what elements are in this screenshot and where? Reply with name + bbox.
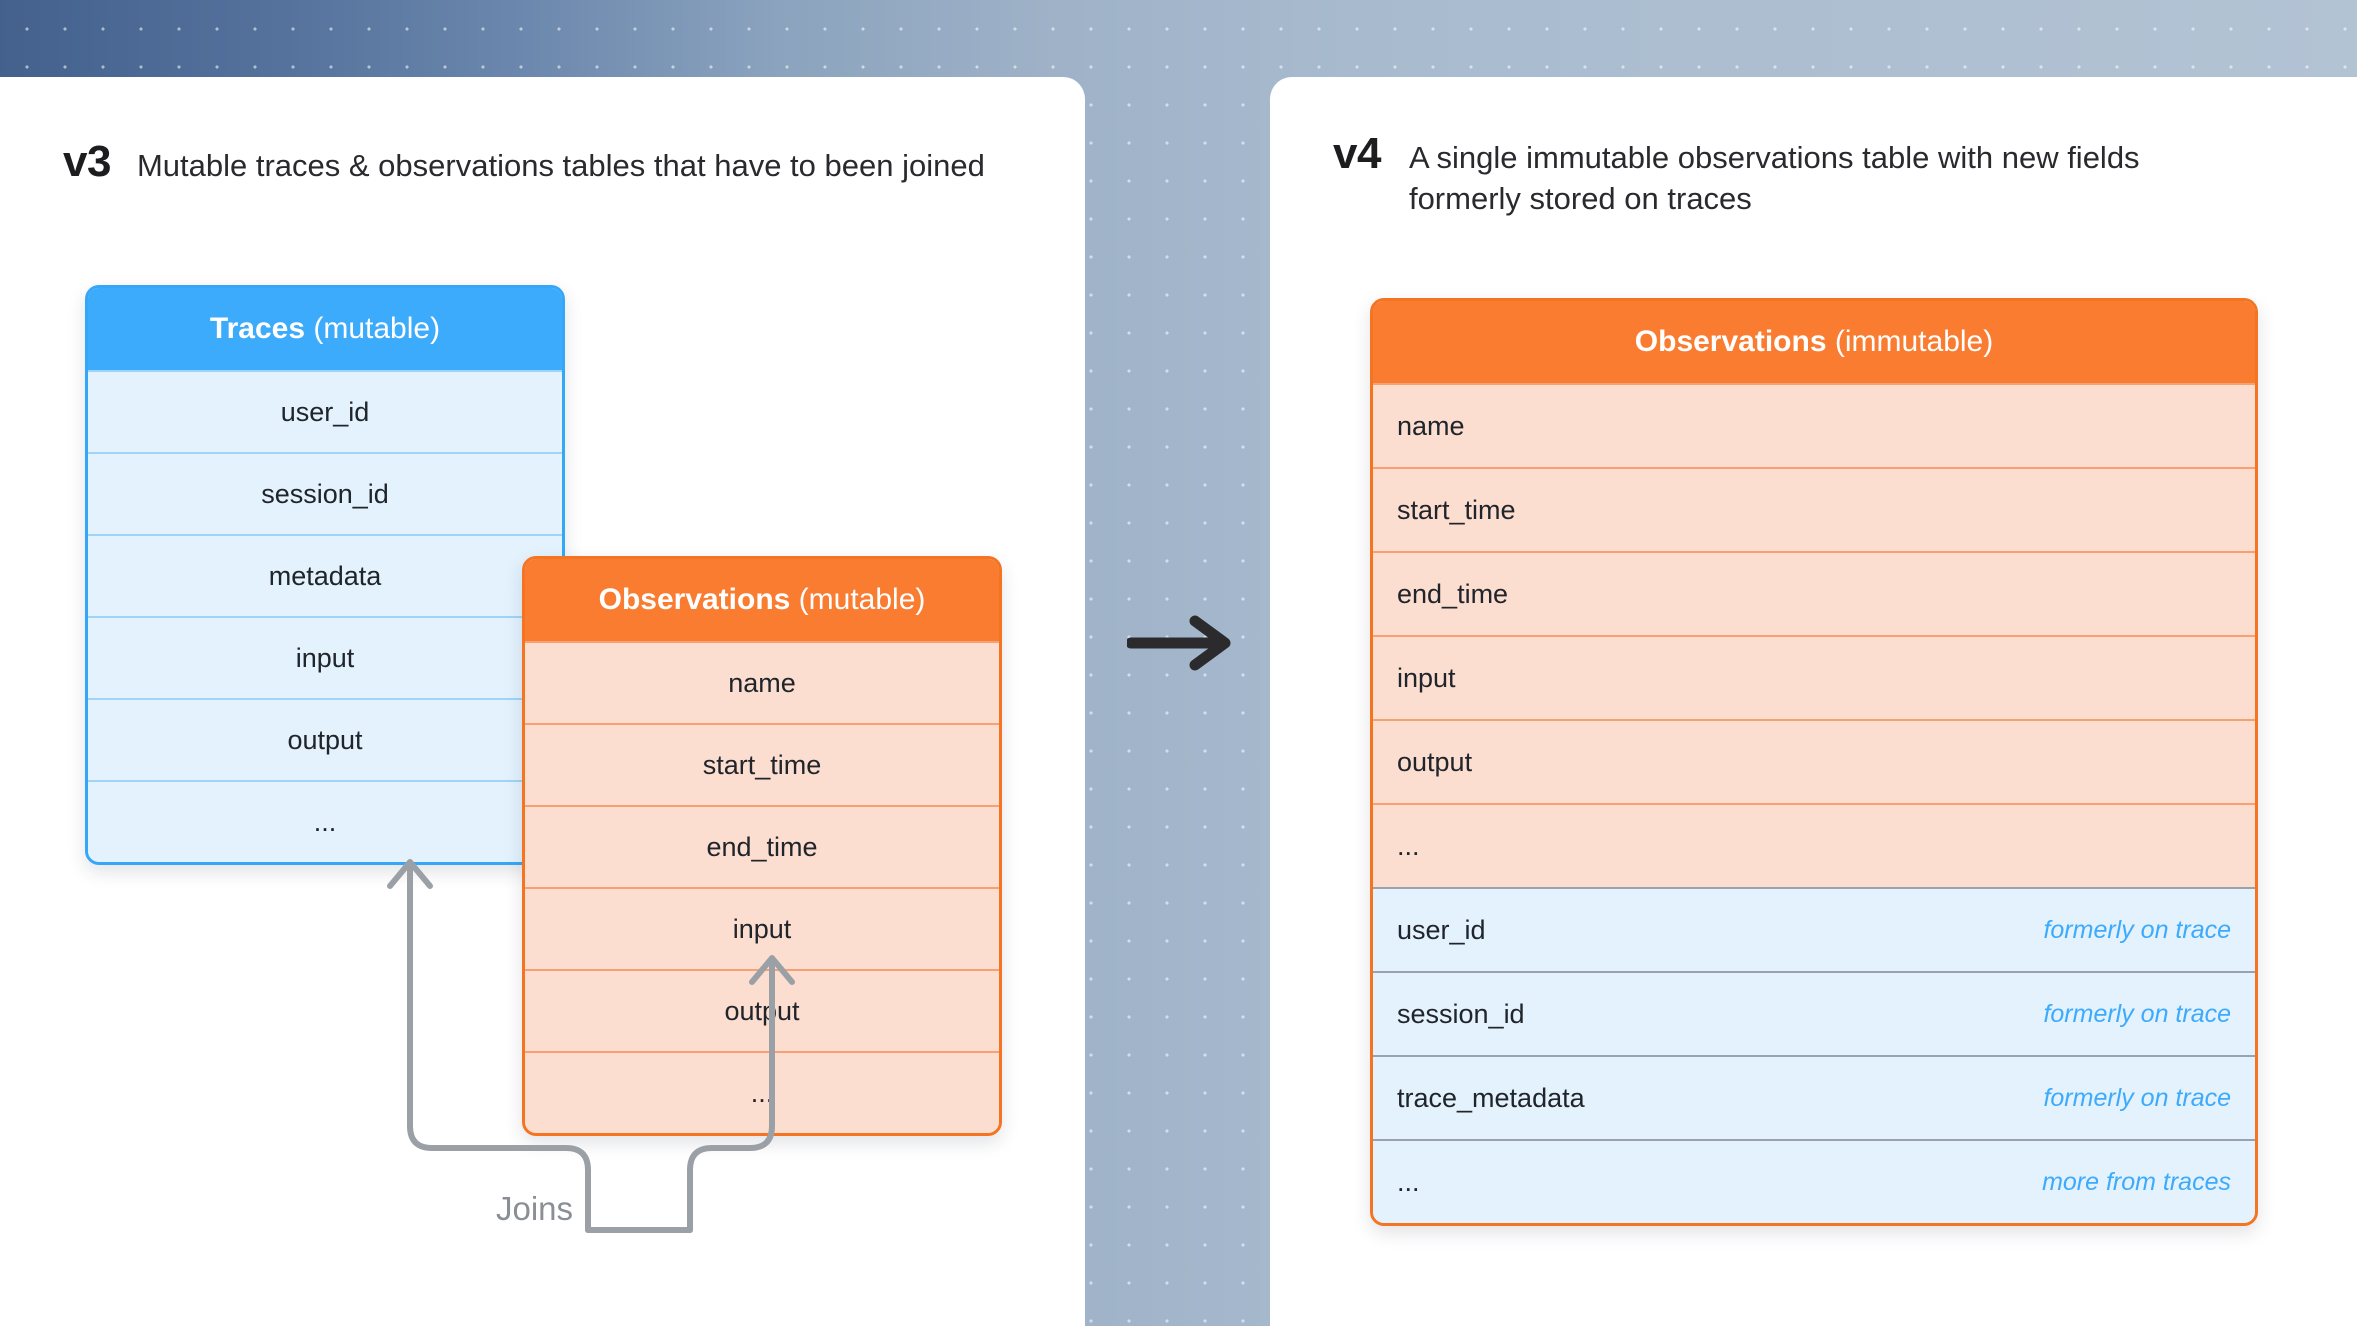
field-label: name xyxy=(1397,411,1465,442)
table-traces-v3-subtitle: (mutable) xyxy=(305,312,440,345)
table-observations-v4: Observations (immutable) name start_time… xyxy=(1370,298,2258,1226)
field-label: user_id xyxy=(281,397,370,428)
table-row: name xyxy=(525,641,999,723)
field-label: metadata xyxy=(269,561,382,592)
field-note: formerly on trace xyxy=(2043,1084,2231,1113)
section-header-v3: v3 Mutable traces & observations tables … xyxy=(63,140,1043,186)
table-row: output xyxy=(88,698,562,780)
diagram-canvas: v3 Mutable traces & observations tables … xyxy=(0,0,2357,1326)
table-observations-v3-title: Observations xyxy=(599,583,791,616)
table-row: name xyxy=(1373,383,2255,467)
field-note: more from traces xyxy=(2042,1168,2231,1197)
table-observations-v4-subtitle: (immutable) xyxy=(1827,325,1994,358)
field-label: session_id xyxy=(1397,999,1525,1030)
version-tag-v3: v3 xyxy=(63,140,111,184)
joins-label: Joins xyxy=(496,1190,573,1228)
field-label: end_time xyxy=(1397,579,1508,610)
table-traces-v3-title: Traces xyxy=(210,312,305,345)
table-row: session_id formerly on trace xyxy=(1373,971,2255,1055)
version-tag-v4: v4 xyxy=(1333,132,1381,176)
table-row: user_id formerly on trace xyxy=(1373,887,2255,971)
table-row: metadata xyxy=(88,534,562,616)
transition-arrow-icon xyxy=(1127,613,1233,673)
table-traces-v3-header: Traces (mutable) xyxy=(88,288,562,370)
version-description-v4: A single immutable observations table wi… xyxy=(1409,132,2209,219)
joins-connector xyxy=(250,840,830,1240)
field-note: formerly on trace xyxy=(2043,1000,2231,1029)
field-label: name xyxy=(728,668,796,699)
table-row: session_id xyxy=(88,452,562,534)
table-row: start_time xyxy=(1373,467,2255,551)
field-label: session_id xyxy=(261,479,389,510)
field-label: input xyxy=(1397,663,1456,694)
field-label: user_id xyxy=(1397,915,1486,946)
section-header-v4: v4 A single immutable observations table… xyxy=(1333,132,2233,219)
field-label: ... xyxy=(314,807,337,838)
field-label: input xyxy=(296,643,355,674)
field-note: formerly on trace xyxy=(2043,916,2231,945)
table-row: trace_metadata formerly on trace xyxy=(1373,1055,2255,1139)
table-row: input xyxy=(1373,635,2255,719)
table-row: output xyxy=(1373,719,2255,803)
field-label: ... xyxy=(1397,1167,1420,1198)
field-label: start_time xyxy=(703,750,822,781)
table-row: end_time xyxy=(1373,551,2255,635)
table-observations-v3-header: Observations (mutable) xyxy=(525,559,999,641)
field-label: start_time xyxy=(1397,495,1516,526)
field-label: output xyxy=(1397,747,1472,778)
table-row: input xyxy=(88,616,562,698)
table-row: start_time xyxy=(525,723,999,805)
table-observations-v4-header: Observations (immutable) xyxy=(1373,301,2255,383)
table-row: user_id xyxy=(88,370,562,452)
table-row: ... more from traces xyxy=(1373,1139,2255,1223)
version-description-v3: Mutable traces & observations tables tha… xyxy=(137,140,985,186)
field-label: output xyxy=(287,725,362,756)
field-label: trace_metadata xyxy=(1397,1083,1585,1114)
table-traces-v3: Traces (mutable) user_id session_id meta… xyxy=(85,285,565,865)
table-row: ... xyxy=(1373,803,2255,887)
field-label: ... xyxy=(1397,831,1420,862)
table-observations-v4-title: Observations xyxy=(1635,325,1827,358)
table-observations-v3-subtitle: (mutable) xyxy=(790,583,925,616)
